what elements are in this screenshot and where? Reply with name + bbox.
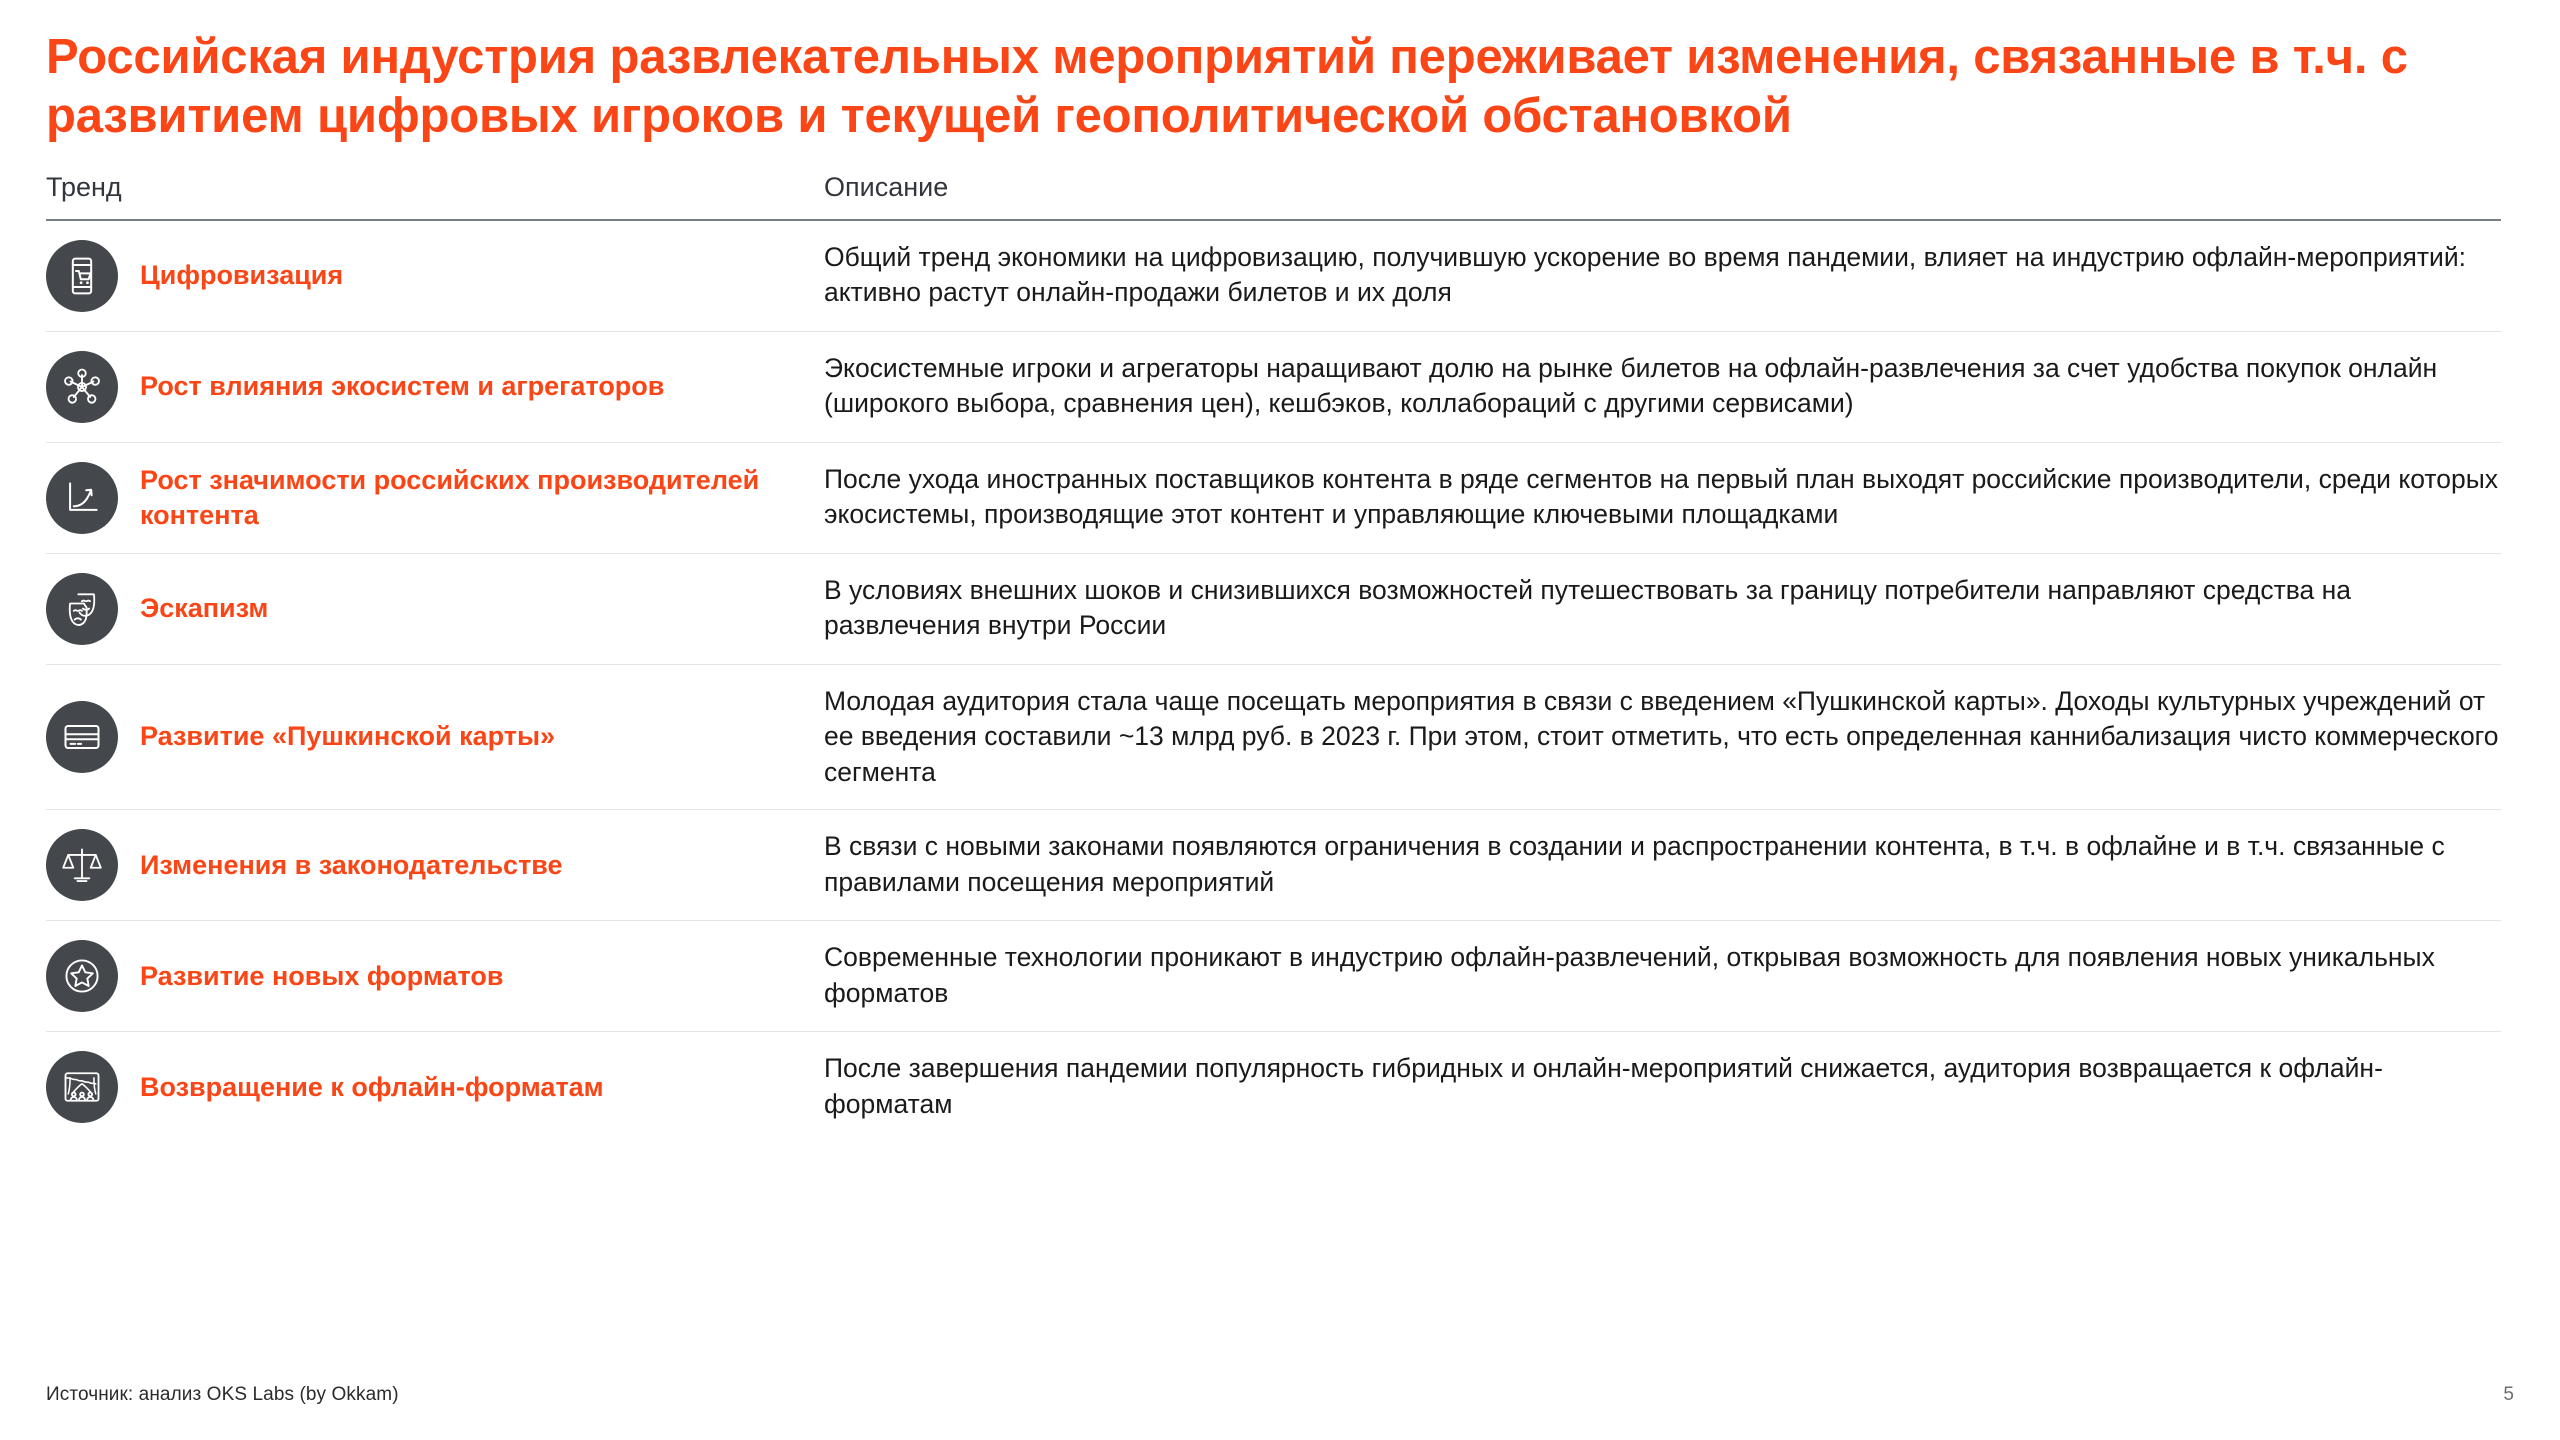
description-cell: Молодая аудитория стала чаще посещать ме… bbox=[806, 664, 2501, 810]
table-body: Цифровизация Общий тренд экономики на ци… bbox=[46, 220, 2501, 1143]
theater-masks-icon bbox=[46, 573, 118, 645]
column-header-description: Описание bbox=[806, 172, 2501, 220]
smartphone-cart-icon bbox=[46, 240, 118, 312]
page-number: 5 bbox=[2503, 1384, 2514, 1406]
page-title: Российская индустрия развлекательных мер… bbox=[46, 28, 2466, 146]
description-cell: После завершения пандемии популярность г… bbox=[806, 1032, 2501, 1143]
table-row: Развитие новых форматов Современные техн… bbox=[46, 921, 2501, 1032]
table-row: Эскапизм В условиях внешних шоков и сниз… bbox=[46, 553, 2501, 664]
trend-cell: Эскапизм bbox=[46, 553, 806, 664]
table-row: Рост влияния экосистем и агрегаторов Эко… bbox=[46, 331, 2501, 442]
trend-cell: Развитие новых форматов bbox=[46, 921, 806, 1032]
slide-root: Российская индустрия развлекательных мер… bbox=[0, 0, 2560, 1440]
trend-cell: Рост значимости российских производителе… bbox=[46, 442, 806, 553]
network-hub-icon bbox=[46, 351, 118, 423]
scales-justice-icon bbox=[46, 829, 118, 901]
description-cell: Экосистемные игроки и агрегаторы наращив… bbox=[806, 331, 2501, 442]
trend-cell: Возвращение к офлайн-форматам bbox=[46, 1032, 806, 1143]
star-circle-icon bbox=[46, 940, 118, 1012]
credit-card-icon bbox=[46, 701, 118, 773]
description-cell: В связи с новыми законами появляются огр… bbox=[806, 810, 2501, 921]
trend-cell: Изменения в законодательстве bbox=[46, 810, 806, 921]
trends-table: Тренд Описание bbox=[46, 172, 2501, 1143]
source-note: Источник: анализ OKS Labs (by Okkam) bbox=[46, 1384, 399, 1406]
description-cell: После ухода иностранных поставщиков конт… bbox=[806, 442, 2501, 553]
trend-label: Возвращение к офлайн-форматам bbox=[140, 1070, 604, 1105]
trend-cell: Цифровизация bbox=[46, 220, 806, 332]
trend-label: Рост влияния экосистем и агрегаторов bbox=[140, 369, 664, 404]
table-row: Цифровизация Общий тренд экономики на ци… bbox=[46, 220, 2501, 332]
trend-cell: Развитие «Пушкинской карты» bbox=[46, 664, 806, 810]
column-header-trend: Тренд bbox=[46, 172, 806, 220]
description-cell: Современные технологии проникают в индус… bbox=[806, 921, 2501, 1032]
growth-chart-icon bbox=[46, 462, 118, 534]
trend-label: Развитие «Пушкинской карты» bbox=[140, 719, 555, 754]
table-row: Изменения в законодательстве В связи с н… bbox=[46, 810, 2501, 921]
trend-label: Эскапизм bbox=[140, 591, 268, 626]
theater-stage-icon bbox=[46, 1051, 118, 1123]
trend-cell: Рост влияния экосистем и агрегаторов bbox=[46, 331, 806, 442]
table-row: Возвращение к офлайн-форматам После заве… bbox=[46, 1032, 2501, 1143]
table-header: Тренд Описание bbox=[46, 172, 2501, 220]
description-cell: Общий тренд экономики на цифровизацию, п… bbox=[806, 220, 2501, 332]
table-row: Рост значимости российских производителе… bbox=[46, 442, 2501, 553]
trend-label: Развитие новых форматов bbox=[140, 959, 503, 994]
description-cell: В условиях внешних шоков и снизившихся в… bbox=[806, 553, 2501, 664]
trend-label: Рост значимости российских производителе… bbox=[140, 463, 792, 533]
trend-label: Изменения в законодательстве bbox=[140, 848, 563, 883]
trend-label: Цифровизация bbox=[140, 258, 343, 293]
table-row: Развитие «Пушкинской карты» Молодая ауди… bbox=[46, 664, 2501, 810]
